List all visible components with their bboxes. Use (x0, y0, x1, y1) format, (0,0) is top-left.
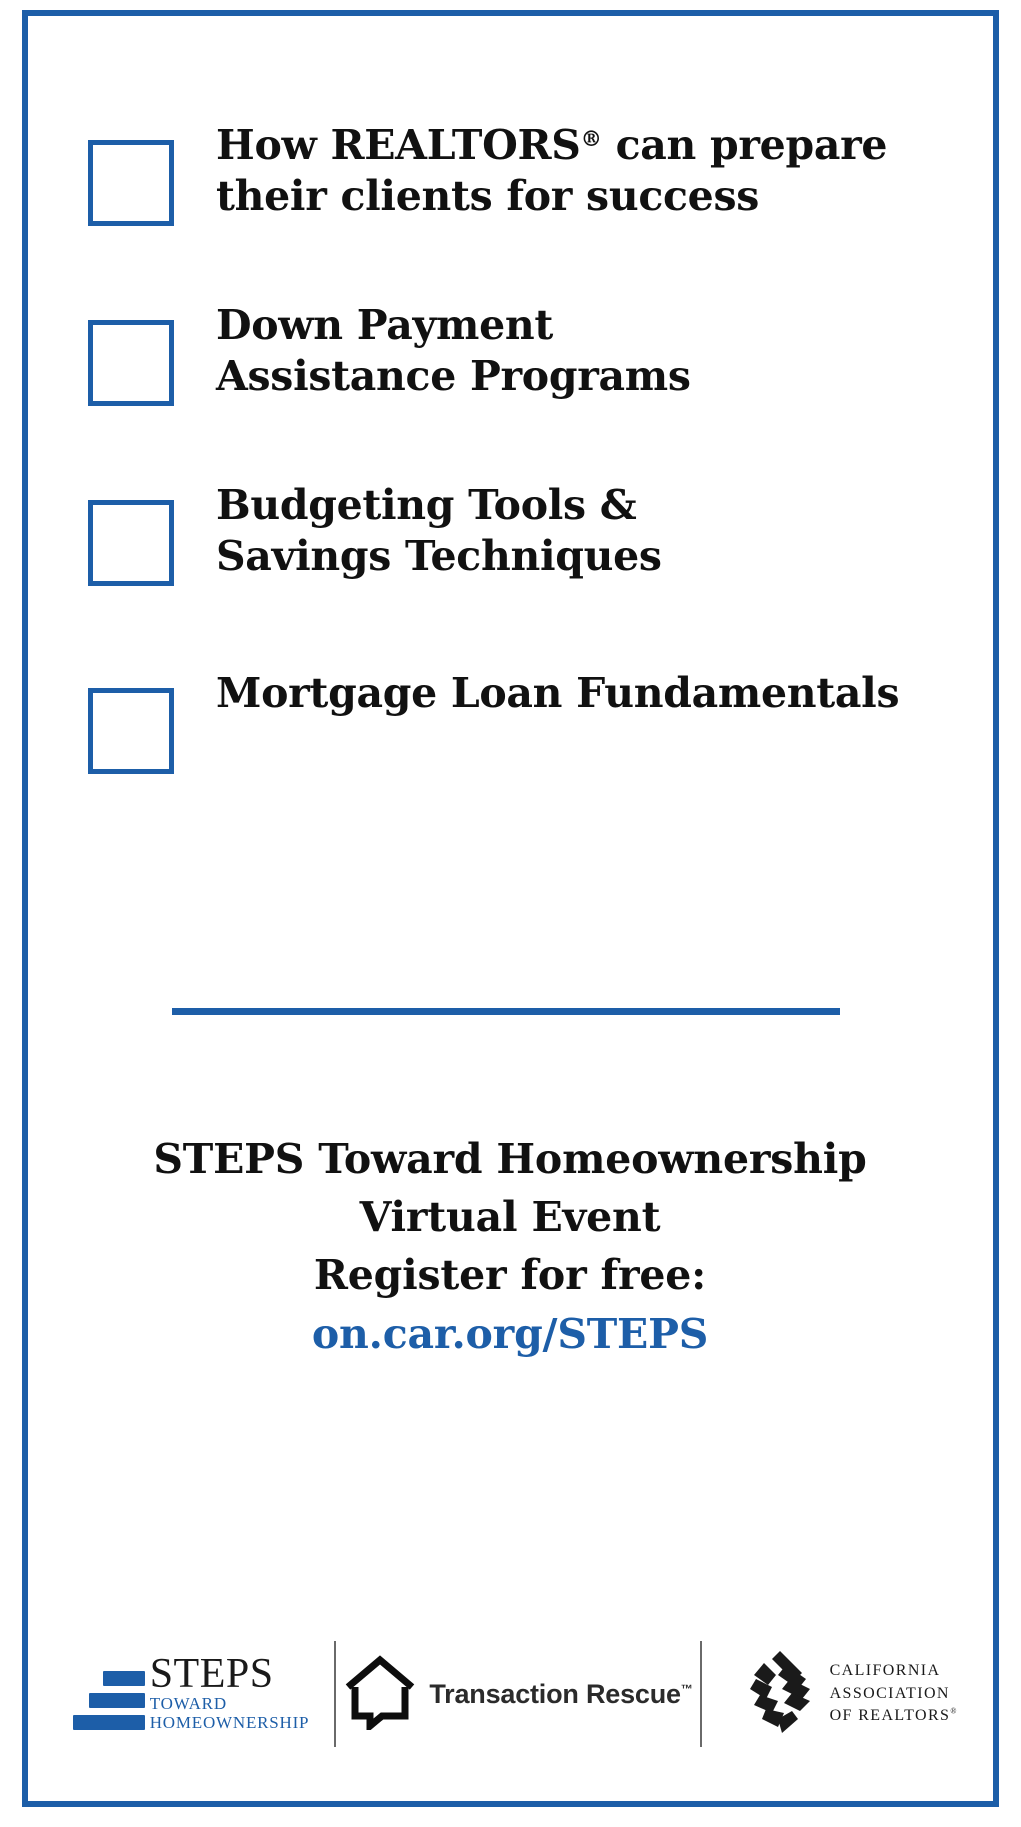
registered-trademark-icon: ® (950, 1707, 956, 1716)
list-item-line2: their clients for success (216, 172, 759, 220)
transaction-rescue-wordmark: Transaction Rescue™ (429, 1679, 692, 1710)
event-title-line2: Virtual Event (360, 1193, 661, 1241)
list-item-line1: Budgeting Tools & (216, 481, 637, 529)
event-title-line1: STEPS Toward Homeownership (153, 1135, 866, 1183)
house-speech-bubble-icon (343, 1654, 417, 1734)
list-spacer (88, 432, 928, 480)
car-line1: CALIFORNIA (830, 1662, 941, 1679)
steps-logo[interactable]: STEPS TOWARD HOMEOWNERSHIP (70, 1634, 312, 1754)
list-item-line1: Down Payment (216, 301, 553, 349)
list-item[interactable]: How REALTORS® can prepare their clients … (88, 120, 928, 226)
list-item-line2: Savings Techniques (216, 532, 662, 580)
list-spacer (88, 612, 928, 668)
registered-trademark-icon: ® (581, 127, 602, 152)
list-item-label: Down Payment Assistance Programs (174, 300, 928, 403)
car-logo[interactable]: CALIFORNIA ASSOCIATION OF REALTORS® (724, 1634, 974, 1754)
list-spacer (88, 252, 928, 300)
car-bear-diamond-icon (742, 1649, 818, 1739)
section-divider (172, 1008, 840, 1015)
registration-url-link[interactable]: on.car.org/STEPS (60, 1305, 960, 1363)
checkbox-realtors-prepare-clients[interactable] (88, 140, 174, 226)
list-item-line2: Assistance Programs (216, 352, 691, 400)
footer-logo-row: STEPS TOWARD HOMEOWNERSHIP Transaction R… (70, 1634, 930, 1754)
car-line2: ASSOCIATION (830, 1685, 950, 1702)
checkbox-mortgage-loan-fundamentals[interactable] (88, 688, 174, 774)
car-line3: OF REALTORS (830, 1707, 951, 1724)
event-cta: Register for free: (314, 1251, 706, 1299)
trademark-icon: ™ (681, 1682, 693, 1696)
list-item-label: Mortgage Loan Fundamentals (174, 668, 928, 719)
car-wordmark: CALIFORNIA ASSOCIATION OF REALTORS® (830, 1660, 957, 1728)
transaction-rescue-logo[interactable]: Transaction Rescue™ (358, 1634, 678, 1754)
poster-canvas: How REALTORS® can prepare their clients … (0, 0, 1021, 1827)
list-item-label: How REALTORS® can prepare their clients … (174, 120, 928, 223)
list-item-label: Budgeting Tools & Savings Techniques (174, 480, 928, 583)
footer-divider (334, 1641, 336, 1747)
list-item-line1: Mortgage Loan Fundamentals (216, 669, 899, 717)
footer-divider (700, 1641, 702, 1747)
list-item[interactable]: Mortgage Loan Fundamentals (88, 668, 928, 774)
checklist: How REALTORS® can prepare their clients … (88, 120, 928, 800)
list-item[interactable]: Down Payment Assistance Programs (88, 300, 928, 406)
checkbox-down-payment-assistance[interactable] (88, 320, 174, 406)
stair-steps-icon (73, 1664, 145, 1733)
steps-tagline-line2: HOMEOWNERSHIP (150, 1713, 310, 1732)
list-item[interactable]: Budgeting Tools & Savings Techniques (88, 480, 928, 586)
steps-wordmark: STEPS (150, 1655, 310, 1694)
list-item-line1-rest: can prepare (602, 121, 888, 169)
list-item-line1: How REALTORS (216, 121, 581, 169)
event-info: STEPS Toward Homeownership Virtual Event… (60, 1130, 960, 1363)
checkbox-budgeting-savings[interactable] (88, 500, 174, 586)
